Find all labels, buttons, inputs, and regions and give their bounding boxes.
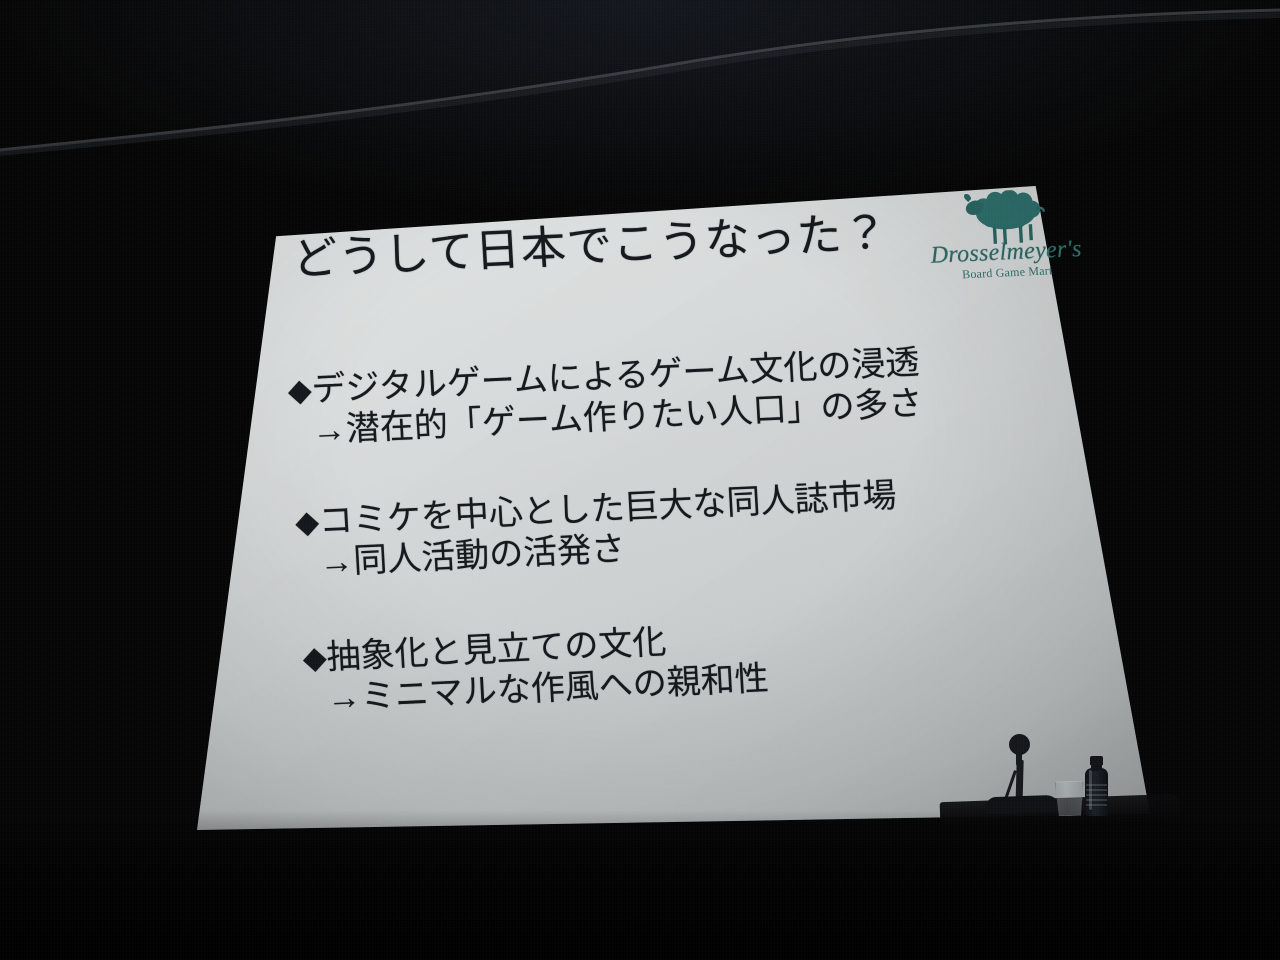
slide-content: どうして日本でこうなった？ xyxy=(181,161,1169,847)
photograph-frame: どうして日本でこうなった？ xyxy=(0,0,1280,960)
diamond-bullet-icon: ◆ xyxy=(294,503,320,542)
projection-screen-area: どうして日本でこうなった？ xyxy=(0,0,1280,960)
bullet-group: ◆コミケを中心とした巨大な同人誌市場 →同人活動の活発さ xyxy=(294,466,1118,586)
diamond-bullet-icon: ◆ xyxy=(302,639,328,678)
diamond-bullet-icon: ◆ xyxy=(287,371,313,410)
bullet-group: ◆抽象化と見立ての文化 →ミニマルな作風への親和性 xyxy=(302,602,1126,722)
brand-logo: Drosselmeyer's Board Game Mart xyxy=(913,186,1099,300)
bullet-group: ◆デジタルゲームによるゲーム文化の浸透 →潜在的「ゲーム作りたい人口」の多さ xyxy=(287,334,1111,454)
projected-slide: どうして日本でこうなった？ xyxy=(197,186,1150,830)
slide-title: どうして日本でこうなった？ xyxy=(291,208,890,284)
